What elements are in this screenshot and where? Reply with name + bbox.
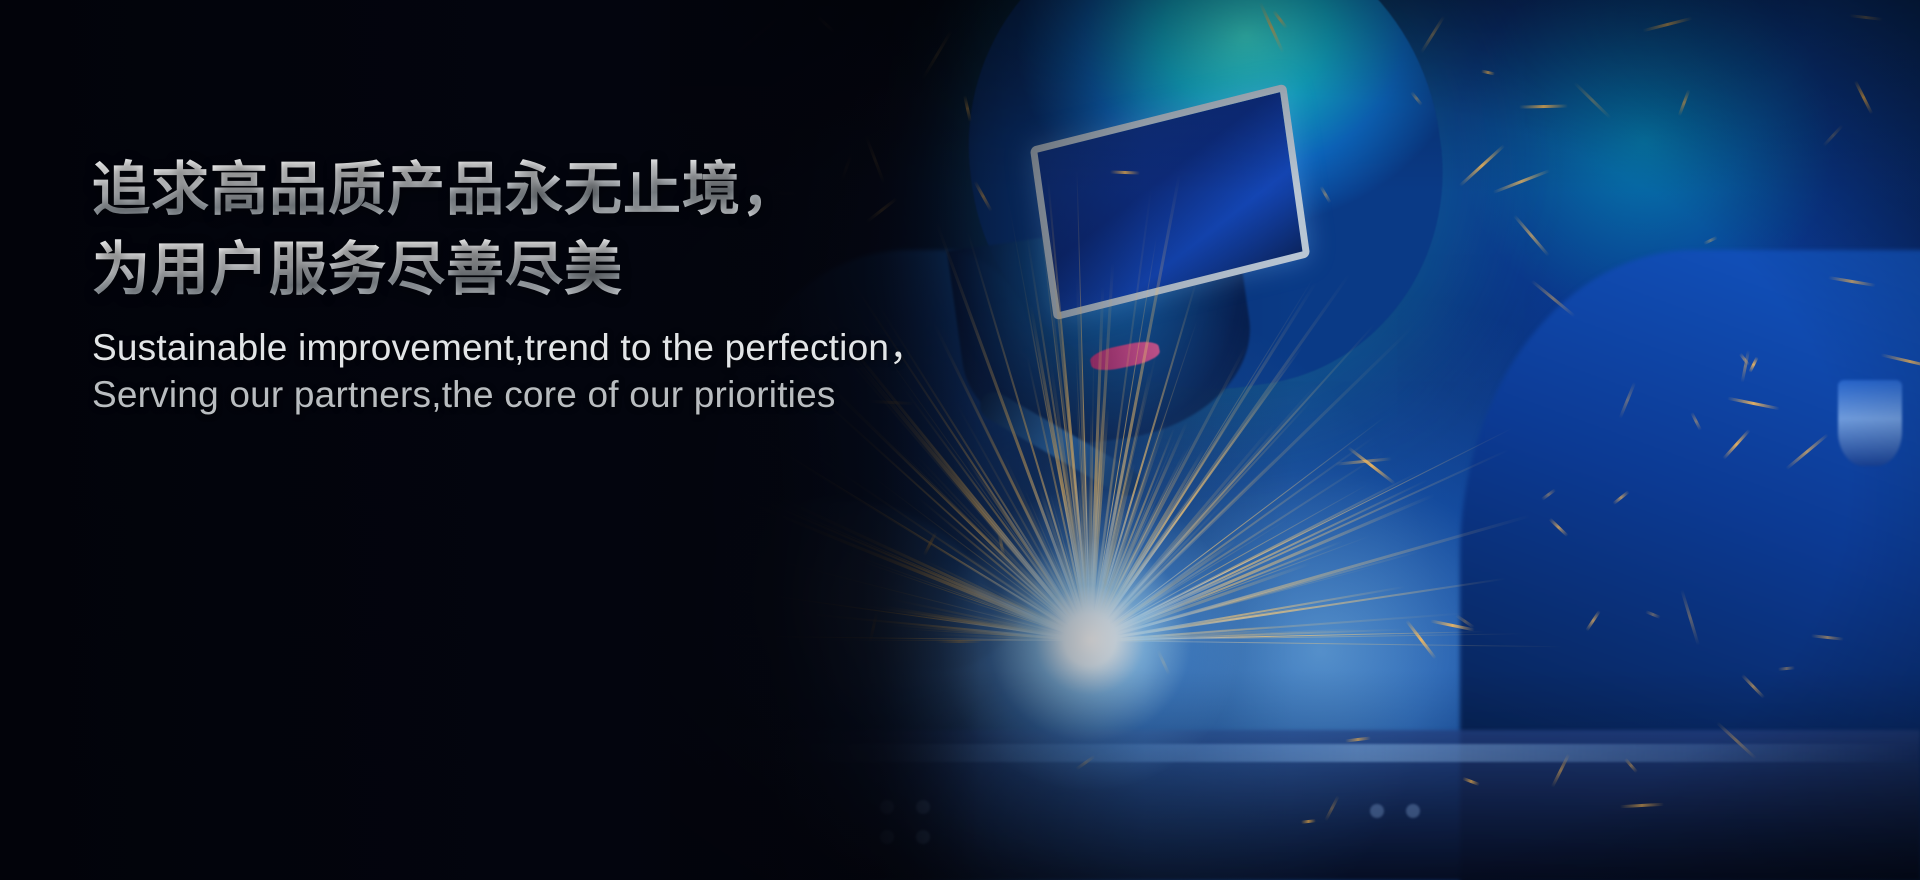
left-dark-panel [0,0,980,880]
headline-line-2: 为用户服务尽善尽美 [92,230,1092,310]
headline-line-1: 追求高品质产品永无止境， [92,150,1092,230]
subtitle-line-1: Sustainable improvement,trend to the per… [92,324,1092,371]
hero-banner: 追求高品质产品永无止境， 为用户服务尽善尽美 Sustainable impro… [0,0,1920,880]
subtitle-line-2: Serving our partners,the core of our pri… [92,371,1092,418]
hero-copy-block: 追求高品质产品永无止境， 为用户服务尽善尽美 Sustainable impro… [92,150,1092,418]
